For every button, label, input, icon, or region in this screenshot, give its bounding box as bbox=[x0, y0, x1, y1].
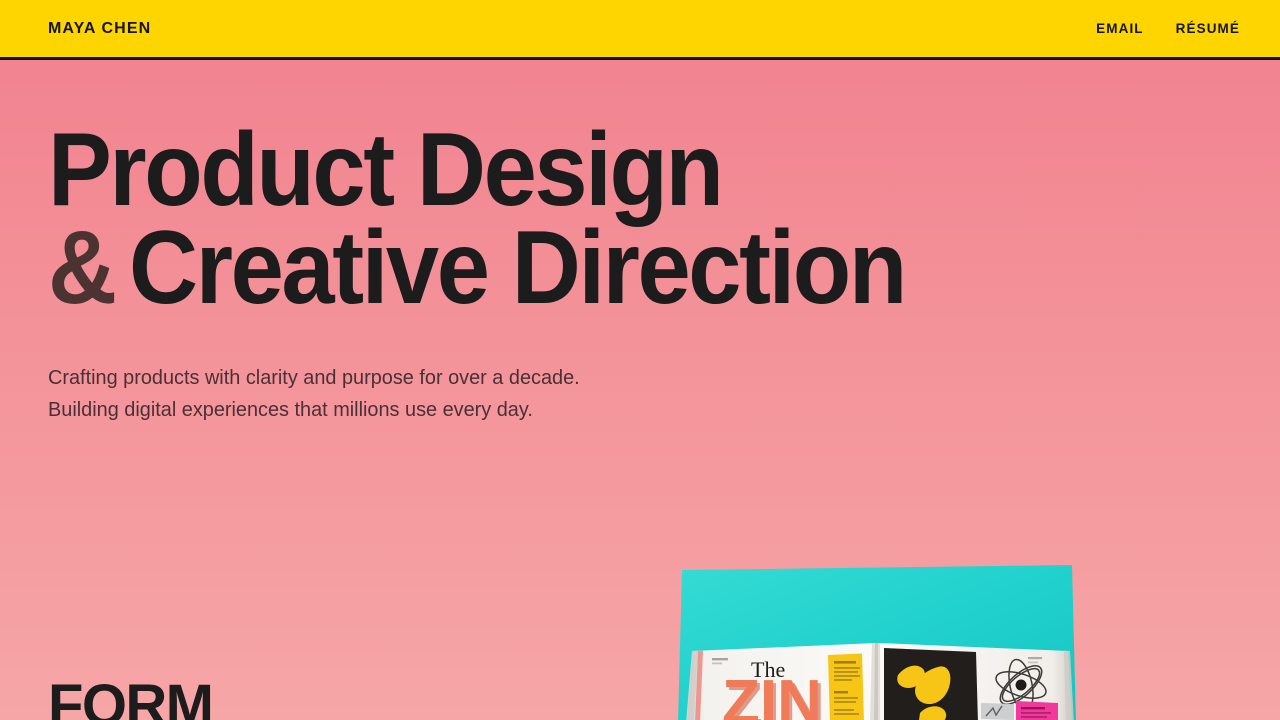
hero-section: Product Design &Creative Direction Craft… bbox=[0, 60, 1280, 426]
page-title: Product Design &Creative Direction bbox=[48, 122, 1181, 318]
headline-line-1: Product Design bbox=[48, 122, 1181, 220]
subtitle-line-2: Building digital experiences that millio… bbox=[48, 394, 1243, 426]
headline-line-2: &Creative Direction bbox=[48, 220, 1181, 318]
ampersand-glyph: & bbox=[48, 210, 116, 326]
hero-subtitle: Crafting products with clarity and purpo… bbox=[48, 362, 1243, 427]
brand-name[interactable]: MAYA CHEN bbox=[48, 20, 151, 38]
section-heading-form: FORM bbox=[48, 672, 212, 720]
magazine-artwork: The ZIN ZIN bbox=[676, 563, 1080, 720]
headline-line-2-text: Creative Direction bbox=[129, 210, 905, 326]
nav-link-resume[interactable]: RÉSUMÉ bbox=[1176, 21, 1240, 36]
site-header: MAYA CHEN EMAIL RÉSUMÉ bbox=[0, 0, 1280, 60]
primary-nav: EMAIL RÉSUMÉ bbox=[1096, 21, 1240, 36]
magazine-atom-nucleus bbox=[1016, 680, 1027, 691]
portfolio-page: MAYA CHEN EMAIL RÉSUMÉ Product Design &C… bbox=[0, 0, 1280, 720]
subtitle-line-1: Crafting products with clarity and purpo… bbox=[48, 362, 1243, 394]
magazine-illustration: The ZIN ZIN bbox=[676, 563, 1080, 720]
magazine-word-zin: ZIN bbox=[722, 668, 822, 720]
nav-link-email[interactable]: EMAIL bbox=[1096, 21, 1144, 36]
